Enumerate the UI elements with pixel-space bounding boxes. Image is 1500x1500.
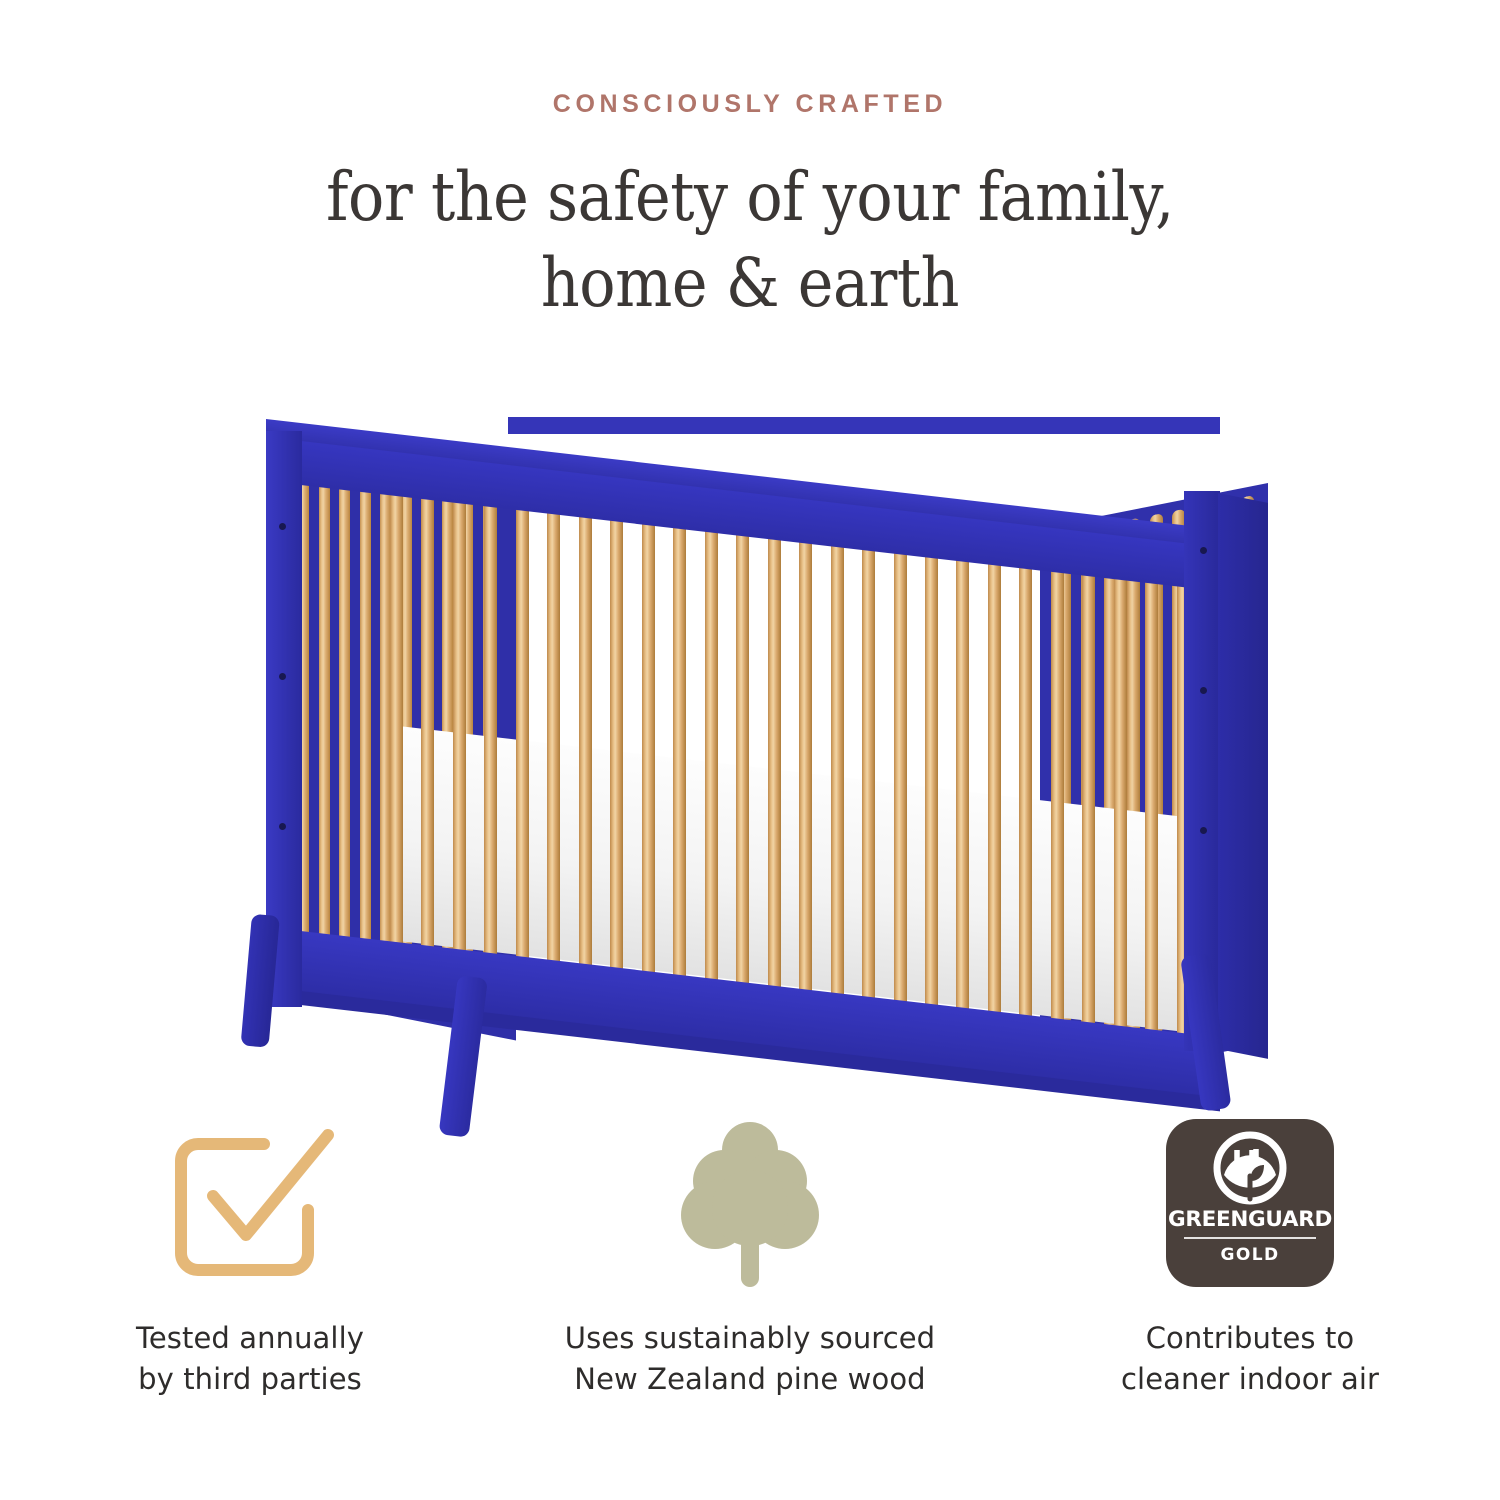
crib-slat [642, 502, 655, 1004]
crib-slat [360, 459, 371, 1001]
caption-line-1: Uses sustainably sourced [565, 1318, 935, 1359]
crib-slat [319, 451, 330, 993]
mattress-height-hole [279, 673, 286, 680]
checkbox-check-icon [150, 1108, 350, 1298]
crib-slat [831, 524, 844, 1026]
crib-slat [1145, 560, 1158, 1062]
mattress-height-hole [1200, 827, 1207, 834]
crib-slat [1082, 553, 1095, 1055]
eyebrow-text: CONSCIOUSLY CRAFTED [0, 92, 1500, 117]
crib-slat [799, 520, 812, 1022]
caption-line-2: New Zealand pine wood [565, 1359, 935, 1400]
crib-slat [956, 539, 969, 1041]
crib-slat [736, 513, 749, 1015]
crib-slat [453, 480, 466, 982]
crib-slat [579, 495, 592, 997]
caption-line-2: by third parties [136, 1359, 364, 1400]
mattress-height-hole [279, 523, 286, 530]
greenguard-gold-badge-icon: GREENGUARD GOLD [1166, 1108, 1334, 1298]
crib-slat [925, 535, 938, 1037]
crib-back-rail [508, 417, 1220, 434]
crib-slat [484, 484, 497, 986]
crib-slat [988, 542, 1001, 1044]
feature-sustainable-wood: Uses sustainably sourced New Zealand pin… [500, 1108, 1000, 1400]
crib-slat [1114, 557, 1127, 1059]
product-image [0, 395, 1500, 1085]
feature-clean-air: GREENGUARD GOLD Contributes to cleaner i… [1000, 1108, 1500, 1400]
crib-slat [1019, 546, 1032, 1048]
header: CONSCIOUSLY CRAFTED for the safety of yo… [0, 92, 1500, 327]
feature-caption: Uses sustainably sourced New Zealand pin… [565, 1318, 935, 1400]
crib-leg-back-left [241, 914, 280, 1048]
feature-caption: Contributes to cleaner indoor air [1121, 1318, 1379, 1400]
crib-slat [390, 473, 403, 975]
tree-icon [675, 1108, 825, 1298]
feature-caption: Tested annually by third parties [136, 1318, 364, 1400]
page-title: for the safety of your family, home & ea… [75, 155, 1425, 327]
crib-slat [1051, 549, 1064, 1051]
crib-slat [516, 488, 529, 990]
mattress-height-hole [1200, 547, 1207, 554]
greenguard-badge: GREENGUARD GOLD [1166, 1119, 1334, 1287]
headline-line-2: home & earth [75, 241, 1425, 327]
crib-slat [862, 528, 875, 1030]
badge-subtitle: GOLD [1221, 1247, 1280, 1264]
badge-word: GREENGUARD [1168, 1209, 1332, 1231]
headline-line-1: for the safety of your family, [75, 155, 1425, 241]
crib-slat [673, 506, 686, 1008]
crib-slat [421, 477, 434, 979]
ul-mark-icon [1213, 1131, 1287, 1205]
crib-right-outer-face [1218, 493, 1268, 1059]
feature-row: Tested annually by third parties [0, 1108, 1500, 1400]
crib-slat [339, 455, 350, 997]
crib-slat [894, 531, 907, 1033]
crib-slat [547, 491, 560, 993]
convertible-crib-illustration [240, 395, 1300, 1085]
caption-line-2: cleaner indoor air [1121, 1359, 1379, 1400]
crib-slat [705, 509, 718, 1011]
mattress-height-hole [279, 823, 286, 830]
mattress-height-hole [1200, 687, 1207, 694]
feature-tested-annually: Tested annually by third parties [0, 1108, 500, 1400]
marketing-page: CONSCIOUSLY CRAFTED for the safety of yo… [0, 0, 1500, 1500]
badge-divider [1184, 1237, 1316, 1239]
crib-slat [768, 517, 781, 1019]
crib-slat [610, 498, 623, 1000]
caption-line-1: Contributes to [1121, 1318, 1379, 1359]
caption-line-1: Tested annually [136, 1318, 364, 1359]
